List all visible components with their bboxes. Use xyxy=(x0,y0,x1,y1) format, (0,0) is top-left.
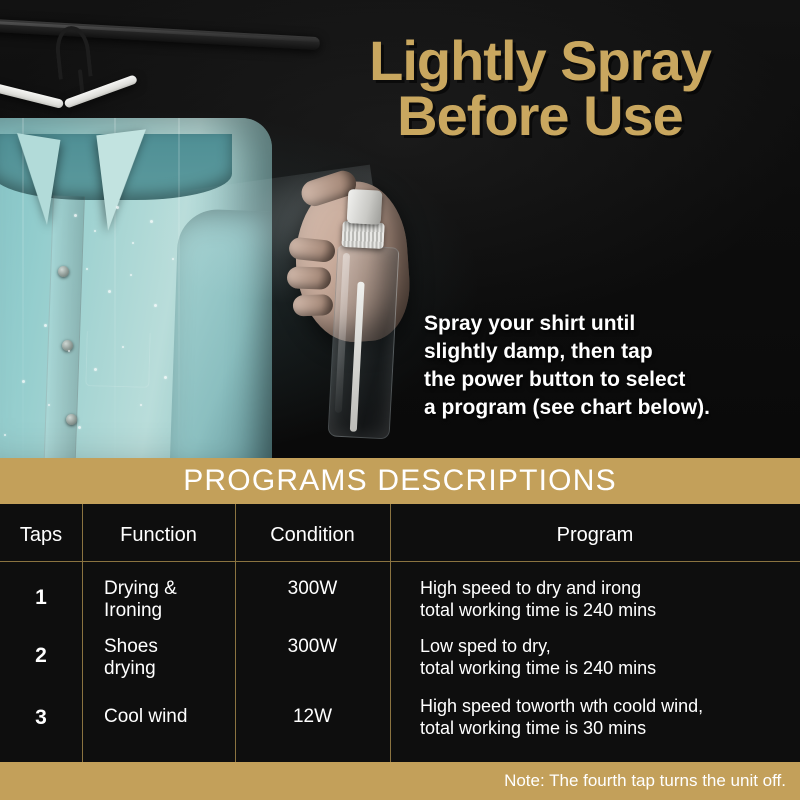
headline-line-2: Before Use xyxy=(300,89,780,144)
shirt-button xyxy=(58,266,69,277)
paragraph-line-1: Spray your shirt until xyxy=(424,310,794,338)
row-1-program-l1: High speed to dry and irong xyxy=(420,578,641,600)
table-title: PROGRAMS DESCRIPTIONS xyxy=(183,464,617,498)
programs-table: Taps Function Condition Program 1 Drying… xyxy=(0,504,800,762)
hanger-shoulder-left xyxy=(0,82,64,109)
row-1-function-l1: Drying & xyxy=(104,578,177,600)
header-divider xyxy=(0,561,800,562)
headline-line-1: Lightly Spray xyxy=(369,29,711,92)
footer-note: Note: The fourth tap turns the unit off. xyxy=(504,771,800,791)
row-1-condition: 300W xyxy=(235,578,390,600)
poster-root: Lightly Spray Before Use Spray your shir… xyxy=(0,0,800,800)
row-3-condition: 12W xyxy=(235,706,390,728)
spray-nozzle-icon xyxy=(347,189,383,225)
row-2-program-l2: total working time is 240 mins xyxy=(420,658,656,680)
row-3-program-l1: High speed toworth wth coold wind, xyxy=(420,696,703,718)
page-title: Lightly Spray Before Use xyxy=(300,34,780,144)
row-3-program-l2: total working time is 30 mins xyxy=(420,718,646,740)
row-1-taps: 1 xyxy=(0,586,82,610)
closet-rod xyxy=(0,19,320,50)
column-header-taps: Taps xyxy=(0,524,82,547)
row-2-function-l2: drying xyxy=(104,658,156,680)
shirt-sleeve xyxy=(169,208,272,458)
table-title-bar: PROGRAMS DESCRIPTIONS xyxy=(0,458,800,504)
footer-note-bar: Note: The fourth tap turns the unit off. xyxy=(0,762,800,800)
row-3-function-l1: Cool wind xyxy=(104,706,187,728)
paragraph-line-3: the power button to select xyxy=(424,366,794,394)
shirt-button xyxy=(66,414,77,425)
row-2-function-l1: Shoes xyxy=(104,636,158,658)
shirt-pocket xyxy=(85,331,150,388)
hanger-shoulder-right xyxy=(63,74,137,108)
row-2-condition: 300W xyxy=(235,636,390,658)
row-2-taps: 2 xyxy=(0,644,82,668)
instruction-paragraph: Spray your shirt until slightly damp, th… xyxy=(424,310,794,422)
teal-linen-shirt xyxy=(0,118,272,458)
column-header-function: Function xyxy=(82,524,235,547)
product-photo: Lightly Spray Before Use Spray your shir… xyxy=(0,0,800,458)
paragraph-line-2: slightly damp, then tap xyxy=(424,338,794,366)
column-header-condition: Condition xyxy=(235,524,390,547)
row-1-program-l2: total working time is 240 mins xyxy=(420,600,656,622)
column-header-program: Program xyxy=(390,524,800,547)
row-2-program-l1: Low sped to dry, xyxy=(420,636,551,658)
shirt-placket xyxy=(43,196,85,458)
row-3-taps: 3 xyxy=(0,706,82,730)
row-1-function-l2: Ironing xyxy=(104,600,162,622)
bottle-collar xyxy=(341,221,384,249)
paragraph-line-4: a program (see chart below). xyxy=(424,394,794,422)
clear-spray-bottle xyxy=(320,188,409,438)
